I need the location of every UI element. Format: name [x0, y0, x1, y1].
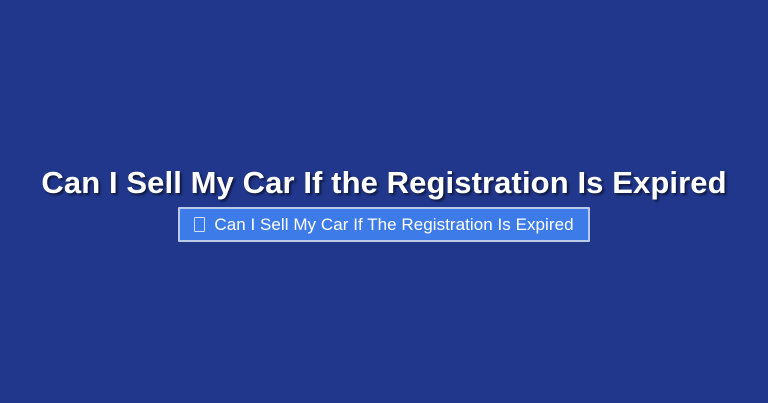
- chip-row: Can I Sell My Car If The Registration Is…: [0, 207, 768, 242]
- page-root: Can I Sell My Car If the Registration Is…: [0, 0, 768, 403]
- page-title: Can I Sell My Car If the Registration Is…: [0, 163, 768, 203]
- search-chip-label: Can I Sell My Car If The Registration Is…: [214, 214, 573, 236]
- missing-glyph-box-icon: [194, 217, 205, 232]
- search-chip[interactable]: Can I Sell My Car If The Registration Is…: [178, 207, 589, 242]
